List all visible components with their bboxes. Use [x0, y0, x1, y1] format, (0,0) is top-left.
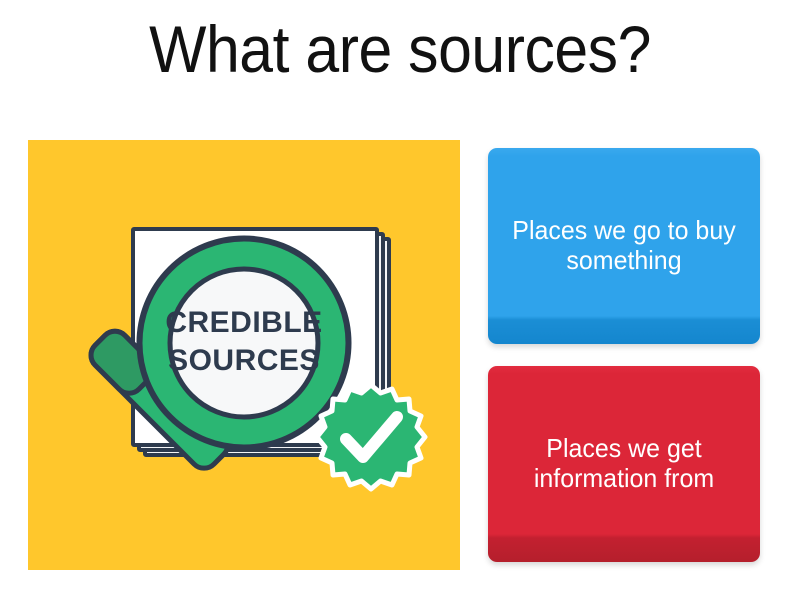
credible-sources-illustration: CREDIBLE SOURCES: [28, 140, 460, 570]
answer-option-1[interactable]: Places we get information from: [488, 366, 760, 562]
answer-option-0[interactable]: Places we go to buy something: [488, 148, 760, 344]
magnifier-lens: [139, 238, 349, 448]
answer-option-0-label: Places we go to buy something: [507, 216, 741, 275]
answer-option-1-label: Places we get information from: [507, 434, 741, 493]
quiz-slide: What are sources? CREDIBLE: [0, 0, 800, 600]
page-title: What are sources?: [32, 16, 768, 82]
document-text-line-1: CREDIBLE: [165, 306, 322, 339]
document-text-line-2: SOURCES: [168, 344, 320, 377]
question-image-card: CREDIBLE SOURCES: [28, 140, 460, 570]
verified-check-badge: [317, 385, 425, 489]
